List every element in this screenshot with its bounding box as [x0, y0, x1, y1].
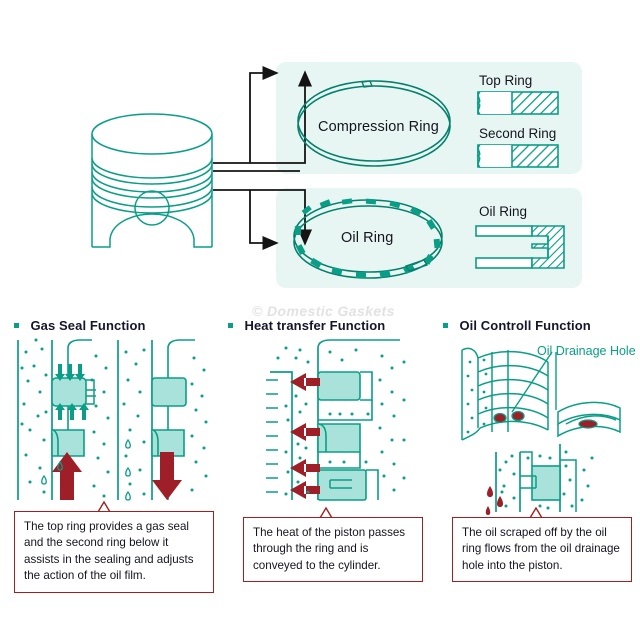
- bullet-icon: [228, 323, 233, 328]
- caption-gas-seal-text: The top ring provides a gas seal and the…: [24, 519, 205, 585]
- ring-block: [318, 372, 360, 400]
- oil-ring-label: Oil Ring: [341, 231, 393, 246]
- second-ring-cross-section: [478, 145, 558, 167]
- watermark: © Domestic Gaskets: [252, 303, 395, 319]
- oil-droplets-red: [486, 486, 503, 515]
- ring-block: [152, 378, 186, 406]
- top-ring-label: Top Ring: [479, 74, 532, 88]
- bullet-icon: [443, 323, 448, 328]
- section-heading-oil-control: Oil Controll Function: [443, 318, 591, 334]
- caption-oil-control-text: The oil scraped off by the oil ring flow…: [462, 525, 623, 574]
- oil-drainage-hole-label: Oil Drainage Hole: [537, 345, 636, 358]
- section-heading-heat-transfer: Heat transfer Function: [228, 318, 385, 334]
- heat-flow-arrow: [290, 373, 320, 499]
- ring-block: [318, 470, 366, 500]
- gas-particles: [21, 339, 208, 498]
- second-ring-label: Second Ring: [479, 127, 556, 141]
- oil-ring-cross-section-label: Oil Ring: [479, 205, 527, 219]
- connector-arrow-top: [250, 73, 276, 243]
- piston-illustration: [92, 114, 212, 247]
- oil-control-particles: [467, 359, 594, 510]
- top-ring-cross-section: [478, 92, 558, 114]
- caption-oil-control: The oil scraped off by the oil ring flow…: [452, 517, 632, 582]
- bullet-icon: [14, 323, 19, 328]
- caption-gas-seal: The top ring provides a gas seal and the…: [14, 511, 214, 593]
- compression-ring-label: Compression Ring: [318, 120, 439, 135]
- ring-block: [52, 378, 86, 406]
- gas-flow-arrow-up: [52, 452, 82, 500]
- caption-heat-transfer: The heat of the piston passes through th…: [243, 517, 423, 582]
- diagram-canvas: Compression Ring Top Ring Second Ring Oi…: [0, 0, 640, 640]
- gas-flow-arrow-down: [152, 452, 182, 500]
- caption-heat-transfer-text: The heat of the piston passes through th…: [253, 525, 414, 574]
- heat-transfer-illustration: [266, 340, 400, 500]
- section-heading-gas-seal: Gas Seal Function: [14, 318, 146, 334]
- drain-hole-detail: [579, 420, 597, 428]
